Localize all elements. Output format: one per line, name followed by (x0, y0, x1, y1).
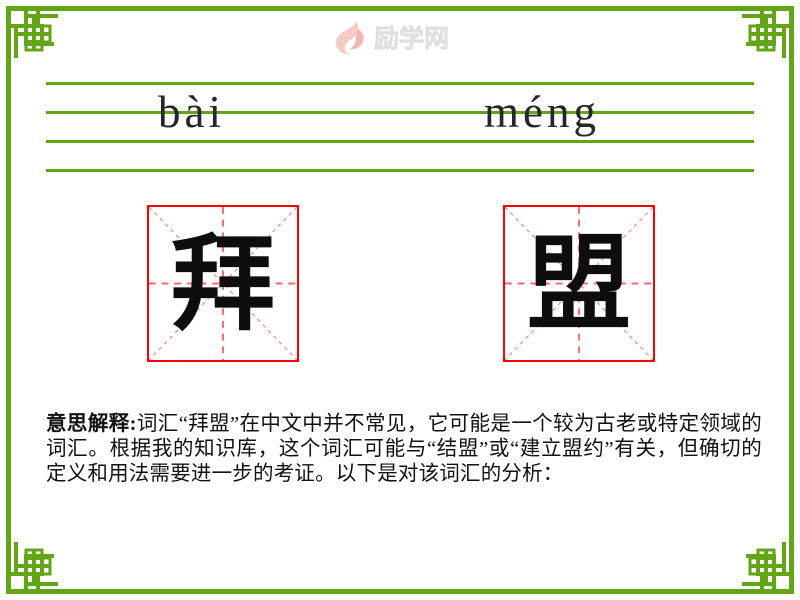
corner-knot-ornament-bottom-left (4, 534, 66, 596)
pinyin-four-line-grid: bài méng (46, 82, 754, 174)
pinyin-syllable-1: bài (158, 76, 225, 148)
meaning-explanation: 意思解释:词汇“拜盟”在中文中并不常见，它可能是一个较为古老或特定领域的词汇。根… (46, 412, 762, 487)
pinyin-grid-line-4 (46, 169, 754, 172)
frame-border-right (789, 6, 794, 594)
worksheet-page: 励学网 bài méng 拜 盟 意思解释:词汇“拜盟”在中文中并不常见，它可能… (0, 0, 800, 600)
pinyin-syllable-2: méng (484, 76, 600, 148)
pinyin-grid-line-3 (46, 140, 754, 143)
frame-border-top (6, 6, 794, 11)
meaning-explanation-label: 意思解释: (46, 413, 137, 435)
frame-border-left (6, 6, 11, 594)
corner-knot-ornament-bottom-right (734, 534, 796, 596)
corner-knot-ornament-top-right (734, 4, 796, 66)
watermark: 励学网 (334, 18, 474, 58)
character-box-2: 盟 (503, 205, 655, 362)
character-glyph-1: 拜 (149, 207, 297, 360)
meaning-explanation-body: 词汇“拜盟”在中文中并不常见，它可能是一个较为古老或特定领域的词汇。根据我的知识… (46, 413, 762, 485)
frame-border-bottom (6, 589, 794, 594)
character-glyph-2: 盟 (505, 207, 653, 360)
watermark-brand-text: 励学网 (374, 26, 449, 51)
pinyin-grid-line-1 (46, 82, 754, 85)
pinyin-grid-line-2 (46, 111, 754, 114)
swirl-flame-logo-icon (334, 20, 368, 56)
corner-knot-ornament-top-left (4, 4, 66, 66)
character-box-1: 拜 (147, 205, 299, 362)
